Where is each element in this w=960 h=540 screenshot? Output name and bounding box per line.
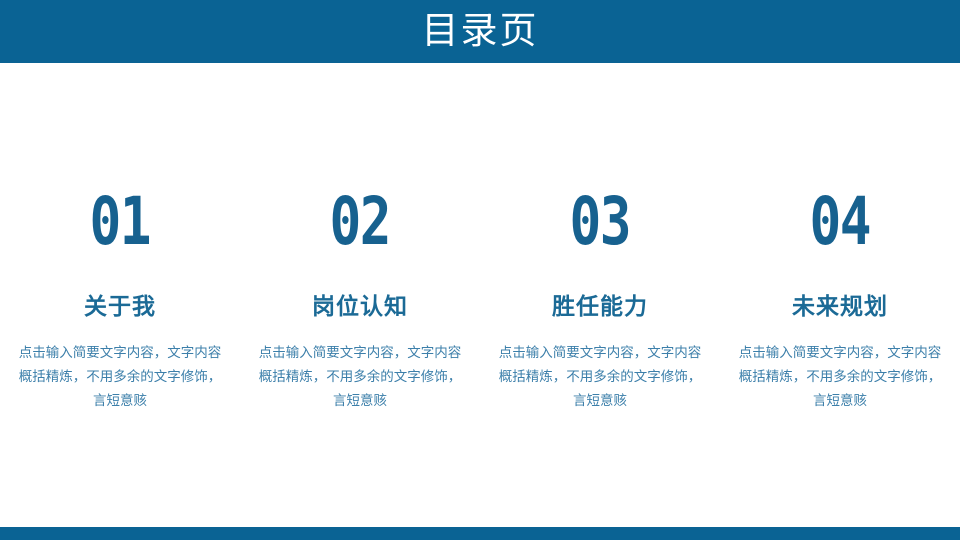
agenda-heading: 未来规划: [792, 296, 888, 319]
agenda-item-02[interactable]: 02 岗位认知 点击输入简要文字内容，文字内容概括精炼，不用多余的文字修饰，言短…: [240, 150, 480, 413]
agenda-body-text: 点击输入简要文字内容，文字内容概括精炼，不用多余的文字修饰，言短意赅: [257, 341, 463, 413]
page-title: 目录页: [422, 12, 539, 49]
agenda-body-text: 点击输入简要文字内容，文字内容概括精炼，不用多余的文字修饰，言短意赅: [497, 341, 703, 413]
agenda-columns: 01 关于我 点击输入简要文字内容，文字内容概括精炼，不用多余的文字修饰，言短意…: [0, 150, 960, 450]
agenda-number: 02: [330, 190, 390, 256]
agenda-heading: 关于我: [84, 296, 156, 319]
agenda-item-04[interactable]: 04 未来规划 点击输入简要文字内容，文字内容概括精炼，不用多余的文字修饰，言短…: [720, 150, 960, 413]
slide-canvas: 目录页 01 关于我 点击输入简要文字内容，文字内容概括精炼，不用多余的文字修饰…: [0, 0, 960, 540]
footer-band: [0, 527, 960, 540]
agenda-number: 03: [570, 190, 630, 256]
agenda-body-text: 点击输入简要文字内容，文字内容概括精炼，不用多余的文字修饰，言短意赅: [737, 341, 943, 413]
agenda-body-text: 点击输入简要文字内容，文字内容概括精炼，不用多余的文字修饰，言短意赅: [17, 341, 223, 413]
agenda-item-03[interactable]: 03 胜任能力 点击输入简要文字内容，文字内容概括精炼，不用多余的文字修饰，言短…: [480, 150, 720, 413]
agenda-number: 01: [90, 190, 150, 256]
agenda-heading: 胜任能力: [552, 296, 648, 319]
agenda-number: 04: [810, 190, 870, 256]
agenda-item-01[interactable]: 01 关于我 点击输入简要文字内容，文字内容概括精炼，不用多余的文字修饰，言短意…: [0, 150, 240, 413]
agenda-heading: 岗位认知: [312, 296, 408, 319]
header-band: 目录页: [0, 0, 960, 63]
